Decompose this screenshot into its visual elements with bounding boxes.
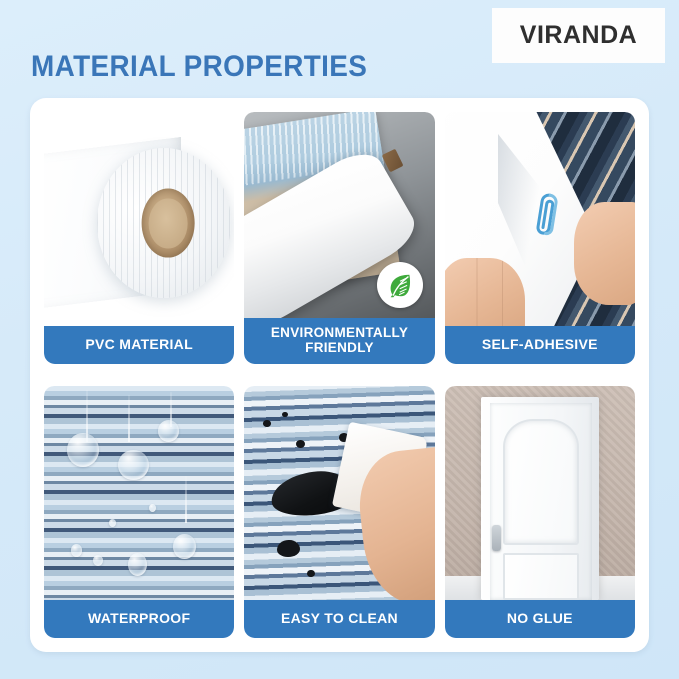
waterproof-image (44, 386, 234, 600)
features-panel: PVC MATERIAL EN (30, 98, 649, 652)
pvc-roll-shape (97, 148, 230, 298)
eco-roll-tip (382, 149, 404, 172)
pvc-roll-image (44, 112, 234, 326)
stain-dot (263, 420, 271, 426)
door-frame (481, 397, 599, 600)
water-droplet (118, 450, 148, 480)
brand-logo-box: VIRANDA (492, 8, 665, 63)
feature-label-environmentally-friendly: ENVIRONMENTALLY FRIENDLY (244, 318, 434, 364)
water-droplet (128, 553, 147, 577)
pvc-core-shape (142, 189, 195, 258)
stain-dot (307, 570, 315, 577)
leaf-icon (377, 262, 423, 308)
feature-card-no-glue[interactable]: NO GLUE (445, 386, 635, 638)
water-droplet (93, 555, 103, 566)
water-trail (128, 395, 130, 442)
feature-card-environmentally-friendly[interactable]: ENVIRONMENTALLY FRIENDLY (244, 112, 434, 364)
right-hand (574, 202, 635, 305)
stain-dot (296, 440, 306, 449)
self-adhesive-image (445, 112, 635, 326)
no-glue-door-image (445, 386, 635, 600)
feature-label-no-glue: NO GLUE (445, 600, 635, 638)
easy-to-clean-image (244, 386, 434, 600)
brand-name: VIRANDA (520, 21, 637, 50)
infographic-page: VIRANDA MATERIAL PROPERTIES PVC MATERIAL (0, 0, 679, 679)
feature-label-pvc-material: PVC MATERIAL (44, 326, 234, 364)
feature-card-self-adhesive[interactable]: SELF-ADHESIVE (445, 112, 635, 364)
stain-dot (277, 540, 300, 557)
feature-card-easy-to-clean[interactable]: EASY TO CLEAN (244, 386, 434, 638)
water-trail (185, 476, 187, 523)
stain-dot (282, 412, 288, 417)
door-handle (492, 525, 501, 551)
door-slab (490, 403, 591, 600)
water-droplet (71, 544, 82, 557)
features-grid: PVC MATERIAL EN (44, 112, 635, 638)
water-droplet (149, 504, 157, 513)
water-droplet (67, 433, 99, 467)
left-hand (445, 258, 525, 326)
eco-wallpaper-image (244, 112, 434, 318)
feature-label-self-adhesive: SELF-ADHESIVE (445, 326, 635, 364)
water-droplet (109, 519, 117, 528)
page-title: MATERIAL PROPERTIES (31, 50, 367, 84)
water-droplet (158, 420, 179, 441)
feature-card-waterproof[interactable]: WATERPROOF (44, 386, 234, 638)
door-panel-bottom (503, 553, 578, 600)
water-droplet (173, 534, 196, 560)
feature-label-waterproof: WATERPROOF (44, 600, 234, 638)
feature-label-easy-to-clean: EASY TO CLEAN (244, 600, 434, 638)
feature-card-pvc-material[interactable]: PVC MATERIAL (44, 112, 234, 364)
door-panel-top (503, 419, 578, 545)
